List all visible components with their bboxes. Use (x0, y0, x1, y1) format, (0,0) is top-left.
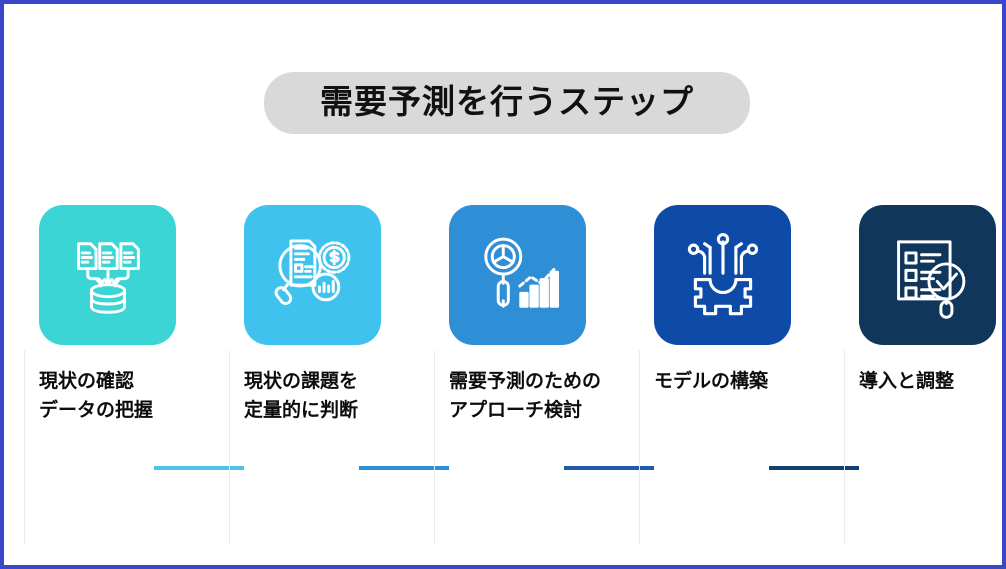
title-container: 需要予測を行うステップ (4, 72, 1006, 134)
step-tile-3[interactable] (449, 205, 586, 345)
column-divider-4 (639, 350, 640, 545)
step-label-4: モデルの構築 (654, 368, 844, 397)
step-item-1[interactable]: 現状の確認 データの把握 (24, 200, 229, 560)
checklist-magnifier-check-icon (882, 229, 974, 321)
step-tile-1[interactable] (39, 205, 176, 345)
title-pill: 需要予測を行うステップ (264, 72, 750, 134)
column-divider-1 (24, 350, 25, 545)
step-label-1: 現状の確認 データの把握 (39, 368, 229, 426)
step-label-3: 需要予測のための アプローチ検討 (449, 368, 639, 426)
step-item-4[interactable]: モデルの構築 (639, 200, 844, 560)
documents-to-database-icon (62, 229, 154, 321)
step-tile-4[interactable] (654, 205, 791, 345)
magnifier-document-coin-chart-icon (267, 229, 359, 321)
steps-flow: 現状の確認 データの把握 (4, 200, 1006, 560)
magnifier-piechart-bargraph-icon (472, 229, 564, 321)
slide-canvas: 需要予測を行うステップ (0, 0, 1006, 569)
column-divider-5 (844, 350, 845, 545)
step-label-2: 現状の課題を 定量的に判断 (244, 368, 434, 426)
step-item-2[interactable]: 現状の課題を 定量的に判断 (229, 200, 434, 560)
step-label-5: 導入と調整 (859, 368, 1006, 397)
page-title: 需要予測を行うステップ (320, 85, 694, 118)
gear-circuit-network-icon (677, 229, 769, 321)
column-divider-3 (434, 350, 435, 545)
column-divider-2 (229, 350, 230, 545)
step-tile-2[interactable] (244, 205, 381, 345)
step-item-3[interactable]: 需要予測のための アプローチ検討 (434, 200, 639, 560)
step-tile-5[interactable] (859, 205, 996, 345)
step-item-5[interactable]: 導入と調整 (844, 200, 1006, 560)
